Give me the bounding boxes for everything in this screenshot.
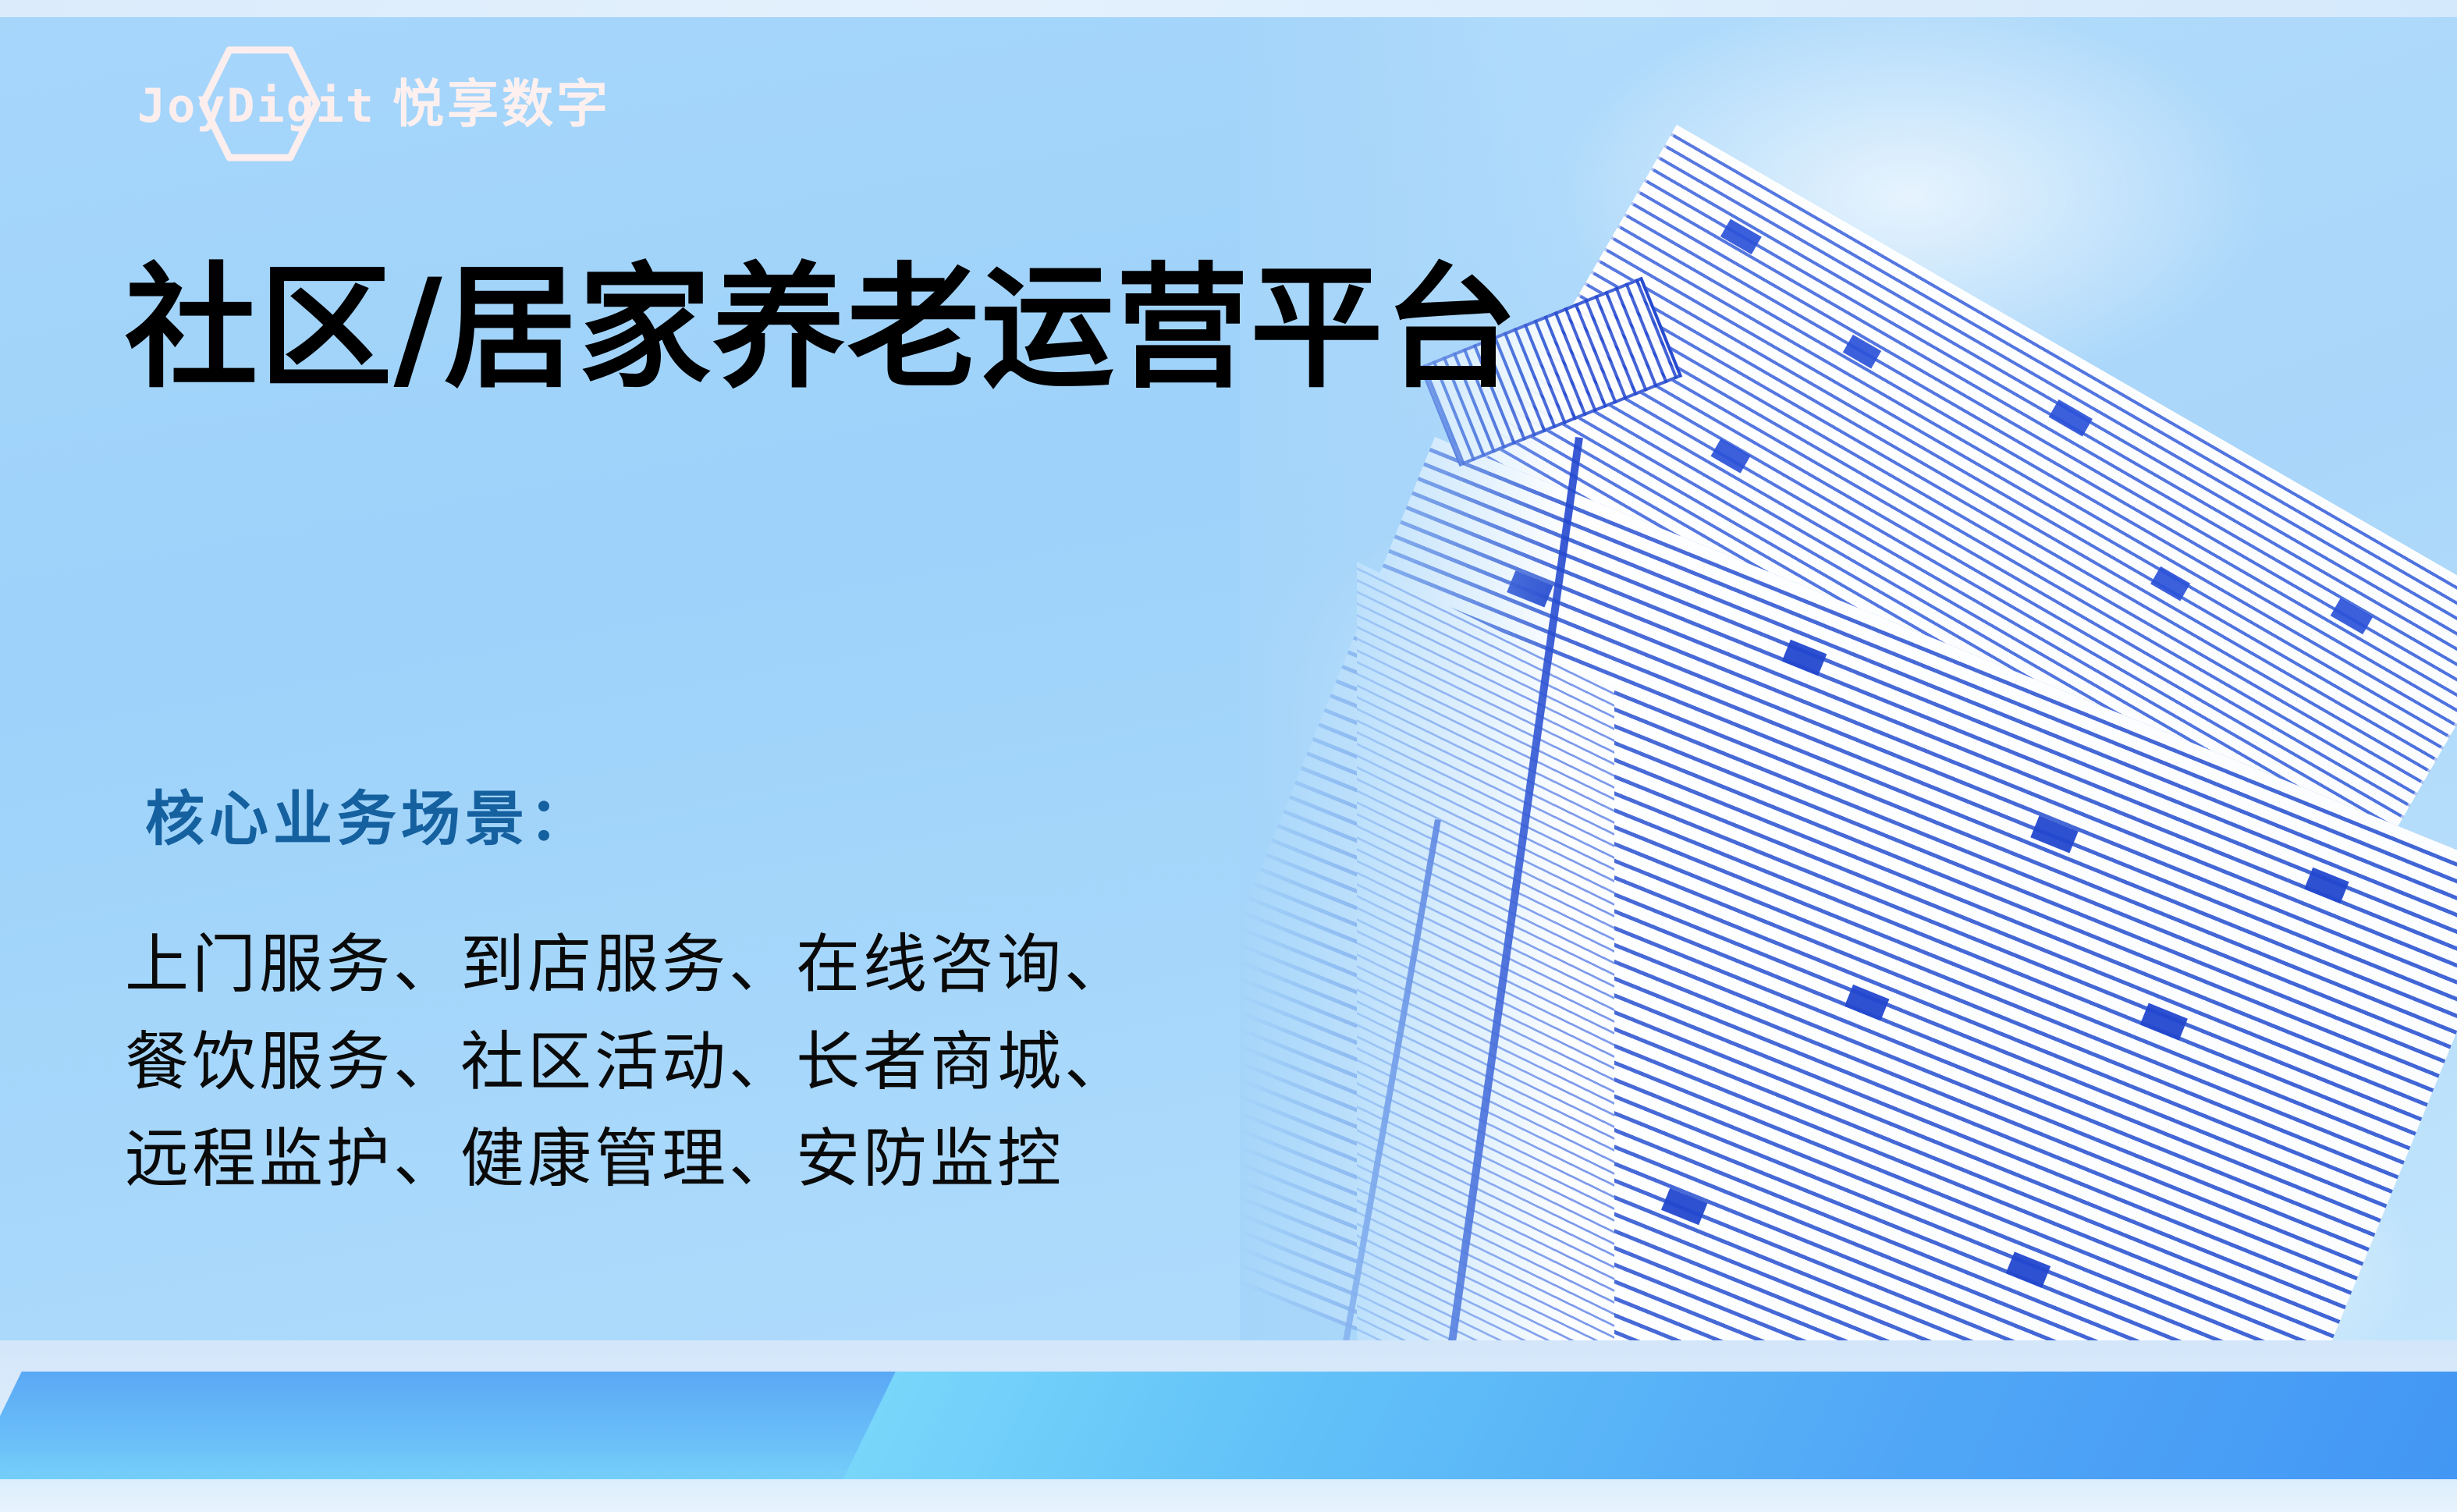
brand-logo[interactable]: JoyDigit 悦享数字 bbox=[137, 53, 611, 147]
section-label-core-scenarios: 核心业务场景： bbox=[145, 771, 593, 857]
scenario-line: 餐饮服务、社区活动、长者商城、 bbox=[125, 1014, 1131, 1112]
photo-left-fade bbox=[1240, 0, 1568, 1404]
skyline-photo bbox=[1240, 0, 2457, 1404]
brand-logo-cn: 悦享数字 bbox=[392, 62, 611, 137]
scenario-list: 上门服务、到店服务、在线咨询、 餐饮服务、社区活动、长者商城、 远程监护、健康管… bbox=[125, 917, 1131, 1209]
brand-logo-en: JoyDigit bbox=[137, 79, 375, 133]
scenario-line: 上门服务、到店服务、在线咨询、 bbox=[125, 917, 1131, 1014]
top-accent-strip bbox=[0, 0, 2457, 17]
scenario-line: 远程监护、健康管理、安防监控 bbox=[125, 1111, 1131, 1209]
bottom-decoration-band bbox=[0, 1340, 2457, 1512]
slide-root: JoyDigit 悦享数字 社区/居家养老运营平台 核心业务场景： 上门服务、到… bbox=[0, 0, 2457, 1512]
band-underline bbox=[0, 1479, 2457, 1512]
page-title: 社区/居家养老运营平台 bbox=[125, 261, 1519, 396]
